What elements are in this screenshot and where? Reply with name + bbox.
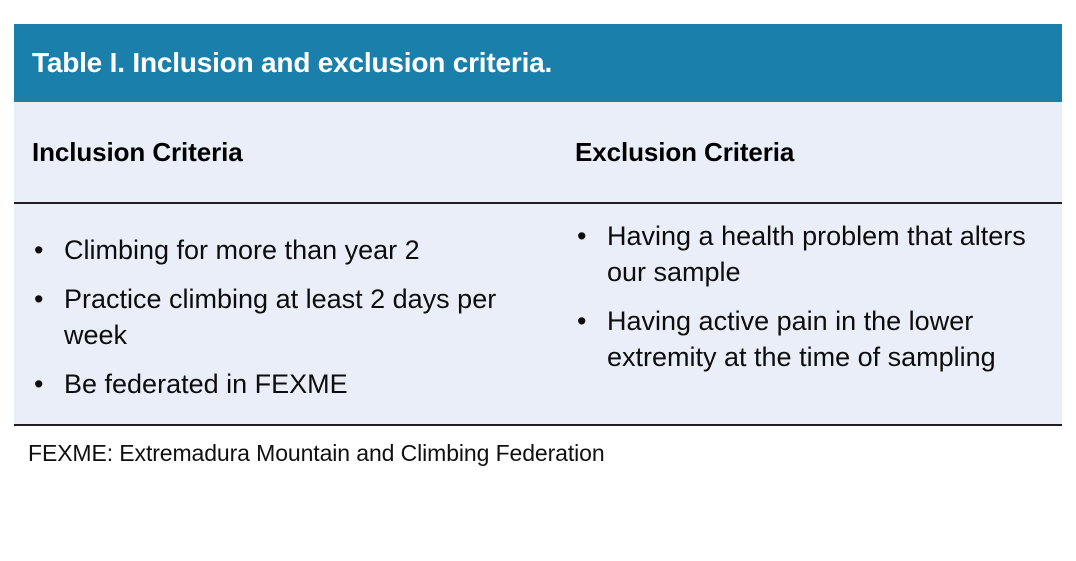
- inclusion-criteria-list: • Climbing for more than year 2 • Practi…: [32, 232, 561, 402]
- table-figure: Table I. Inclusion and exclusion criteri…: [14, 24, 1062, 467]
- list-item: • Be federated in FEXME: [32, 366, 561, 402]
- bullet-icon: •: [34, 366, 43, 402]
- list-item: • Having active pain in the lower extrem…: [575, 303, 1062, 375]
- column-header-exclusion: Exclusion Criteria: [561, 102, 1062, 202]
- bullet-icon: •: [34, 232, 43, 268]
- bullet-icon: •: [577, 303, 586, 339]
- criteria-row: • Climbing for more than year 2 • Practi…: [14, 204, 1062, 402]
- list-item-text: Practice climbing at least 2 days per we…: [64, 284, 496, 350]
- list-item: • Practice climbing at least 2 days per …: [32, 281, 561, 353]
- inclusion-criteria-cell: • Climbing for more than year 2 • Practi…: [14, 218, 561, 402]
- column-header-row: Inclusion Criteria Exclusion Criteria: [14, 102, 1062, 204]
- table-body: Inclusion Criteria Exclusion Criteria • …: [14, 102, 1062, 426]
- list-item: • Climbing for more than year 2: [32, 232, 561, 268]
- exclusion-criteria-list: • Having a health problem that alters ou…: [575, 218, 1062, 375]
- column-header-inclusion: Inclusion Criteria: [14, 102, 561, 202]
- list-item-text: Having active pain in the lower extremit…: [607, 306, 996, 372]
- bullet-icon: •: [577, 218, 586, 254]
- exclusion-criteria-cell: • Having a health problem that alters ou…: [561, 218, 1062, 375]
- table-title-bar: Table I. Inclusion and exclusion criteri…: [14, 24, 1062, 102]
- table-title: Table I. Inclusion and exclusion criteri…: [32, 47, 552, 79]
- list-item-text: Having a health problem that alters our …: [607, 221, 1026, 287]
- list-item-text: Climbing for more than year 2: [64, 235, 420, 265]
- list-item-text: Be federated in FEXME: [64, 369, 348, 399]
- bullet-icon: •: [34, 281, 43, 317]
- table-footnote: FEXME: Extremadura Mountain and Climbing…: [14, 426, 1062, 467]
- list-item: • Having a health problem that alters ou…: [575, 218, 1062, 290]
